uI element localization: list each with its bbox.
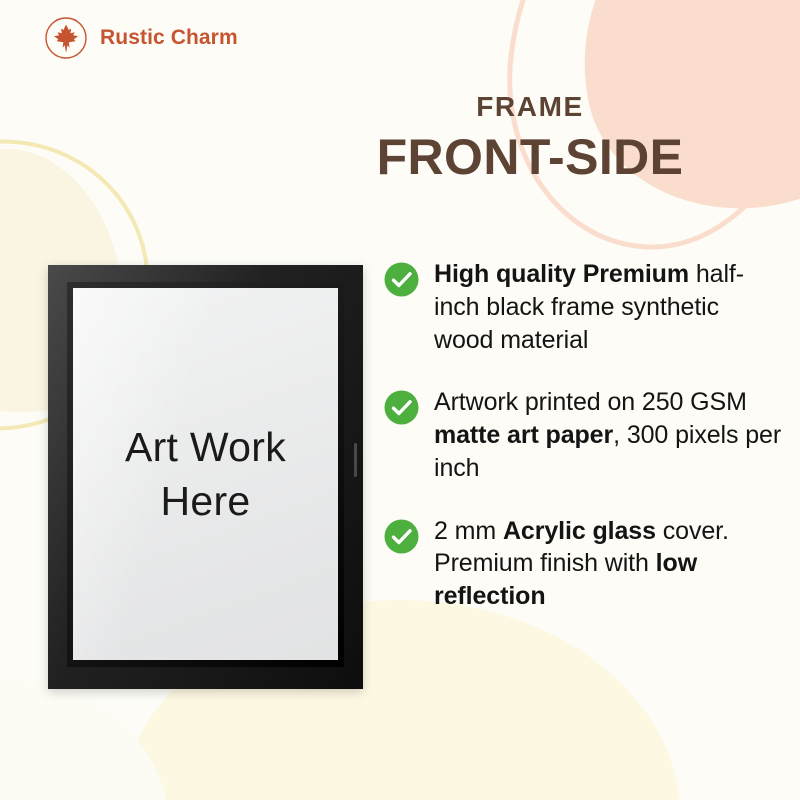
check-circle-icon [383, 518, 420, 555]
check-circle-icon [383, 389, 420, 426]
maple-leaf-icon [44, 16, 88, 60]
feature-text: Artwork printed on 250 GSM matte art pap… [434, 386, 783, 484]
brand-name: Rustic Charm [100, 26, 238, 50]
feature-list: High quality Premium half-inch black fra… [383, 258, 783, 613]
feature-text: 2 mm Acrylic glass cover. Premium finish… [434, 515, 783, 613]
feature-item-glass: 2 mm Acrylic glass cover. Premium finish… [383, 515, 783, 613]
feature-item-paper: Artwork printed on 250 GSM matte art pap… [383, 386, 783, 484]
frame-mockup: Art Work Here [48, 265, 363, 689]
frame-mat-area: Art Work Here [73, 288, 338, 660]
heading-kicker: FRAME [300, 92, 760, 123]
heading-block: FRAME FRONT-SIDE [300, 92, 760, 186]
feature-item-quality: High quality Premium half-inch black fra… [383, 258, 783, 356]
page-title: FRONT-SIDE [300, 129, 760, 187]
frame-edge-highlight [354, 443, 357, 477]
artwork-placeholder: Art Work Here [125, 420, 286, 528]
brand-logo[interactable]: Rustic Charm [44, 16, 238, 60]
promo-card: Rustic Charm FRAME FRONT-SIDE Art Work H… [0, 0, 800, 800]
artwork-placeholder-line2: Here [160, 478, 250, 524]
check-circle-icon [383, 261, 420, 298]
artwork-placeholder-line1: Art Work [125, 424, 286, 470]
feature-text: High quality Premium half-inch black fra… [434, 258, 783, 356]
